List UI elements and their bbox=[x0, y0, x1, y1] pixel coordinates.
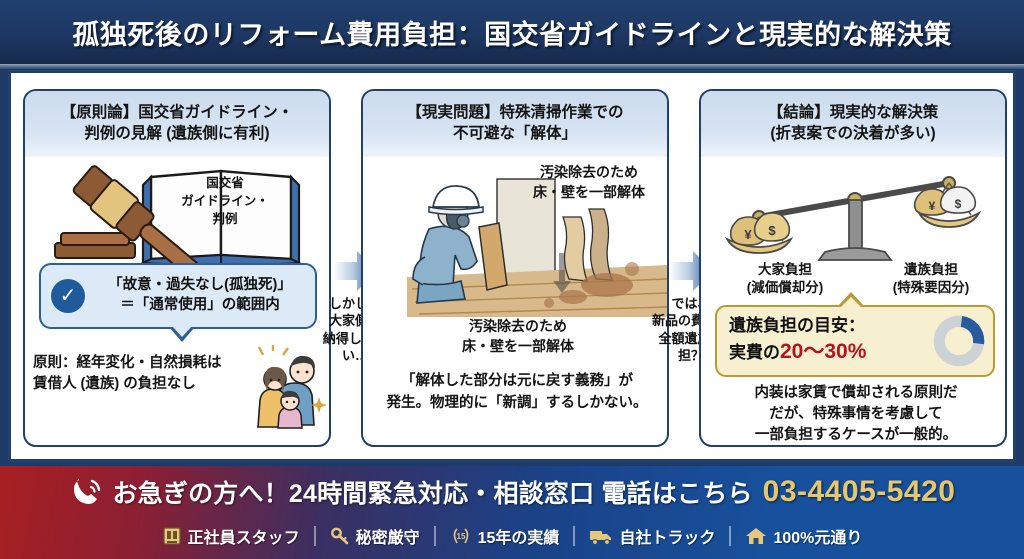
panel-header: 【原則論】国交省ガイドライン・ 判例の見解 (遺族側に有利) bbox=[25, 91, 329, 157]
panel-body: 汚染除去のため 床・壁を一部解体 汚染除去のため 床・壁を一部解体 「解体した部… bbox=[363, 157, 667, 447]
cost-estimate-highlight: 遺族負担の目安： 実費の20〜30% bbox=[715, 305, 995, 377]
principle-callout: ✓ 「故意・過失なし(孤独死)」 ＝「通常使用」の範囲内 bbox=[39, 263, 317, 329]
highlight-line-1: 遺族負担の目安： bbox=[729, 315, 933, 338]
panel-principle-bottom-text: 原則：経年変化・自然損耗は 賃借人 (遺族) の負担なし bbox=[33, 353, 263, 395]
svg-text:¥: ¥ bbox=[744, 227, 752, 242]
badge-label: 100%元通り bbox=[773, 524, 862, 548]
svg-text:¥: ¥ bbox=[929, 199, 936, 213]
badge-label: 自社トラック bbox=[619, 524, 715, 548]
truck-icon bbox=[589, 526, 613, 546]
badge-confidentiality: 秘密厳守 bbox=[316, 524, 434, 548]
callout-text: 「故意・過失なし(孤独死)」 ＝「通常使用」の範囲内 bbox=[93, 276, 307, 315]
badge-full-time-staff: 正社員スタッフ bbox=[148, 524, 314, 548]
balance-scale-illustration: ¥ $ ¥ $ bbox=[721, 159, 989, 263]
cta-text: お急ぎの方へ！24時間緊急対応・相談窓口 電話はこちら bbox=[113, 474, 753, 510]
header-bar: 孤独死後のリフォーム費用負担：国交省ガイドラインと現実的な解決策 bbox=[0, 0, 1024, 64]
infographic-root: 孤独死後のリフォーム費用負担：国交省ガイドラインと現実的な解決策 【原則論】国交… bbox=[0, 0, 1024, 559]
panel-conclusion-bottom-text: 内装は家賃で償却される原則だ だが、特殊事情を考慮して 一部負担するケースが一般… bbox=[711, 383, 1001, 446]
content-board: 【原則論】国交省ガイドライン・ 判例の見解 (遺族側に有利) bbox=[8, 70, 1016, 462]
laurel-15-icon: 15 bbox=[450, 526, 472, 546]
badge-label: 秘密厳守 bbox=[356, 524, 420, 548]
panel-header-text: 【原則論】国交省ガイドライン・ 判例の見解 (遺族側に有利) bbox=[61, 103, 294, 144]
svg-text:15: 15 bbox=[456, 532, 465, 541]
donut-chart-icon bbox=[933, 315, 985, 367]
check-circle-icon: ✓ bbox=[51, 279, 85, 313]
gavel-and-book-illustration: 国交省 ガイドライン・ 判例 bbox=[25, 159, 331, 269]
page-title: 孤独死後のリフォーム費用負担：国交省ガイドラインと現実的な解決策 bbox=[72, 13, 951, 52]
badge-15-years: 15 15年の実績 bbox=[436, 524, 574, 548]
badge-own-truck: 自社トラック bbox=[575, 524, 729, 548]
panel-reality-bottom-text: 「解体した部分は元に戻す義務」が 発生。物理的に「新調」するしかない。 bbox=[371, 371, 663, 415]
certificate-icon bbox=[162, 526, 182, 546]
panel-reality-caption: 汚染除去のため 床・壁を一部解体 bbox=[403, 317, 633, 356]
panel-header: 【現実問題】特殊清掃作業での 不可避な「解体」 bbox=[363, 91, 667, 157]
trust-badges: 正社員スタッフ 秘密厳守 15 15年の実績 bbox=[0, 518, 1024, 554]
svg-text:$: $ bbox=[955, 197, 962, 211]
scale-label-family: 遺族負担 (特殊要因分) bbox=[867, 261, 995, 296]
footer-cta-banner: お急ぎの方へ！24時間緊急対応・相談窓口 電話はこちら 03-4405-5420… bbox=[0, 466, 1024, 559]
panel-header: 【結論】現実的な解決策 (折衷案での決着が多い) bbox=[701, 91, 1005, 157]
phone-ringing-icon bbox=[69, 475, 103, 509]
panel-body: 国交省 ガイドライン・ 判例 ✓ 「故意・過失なし(孤独死)」 ＝「通常使用」の… bbox=[25, 157, 329, 447]
panel-principle: 【原則論】国交省ガイドライン・ 判例の見解 (遺族側に有利) bbox=[23, 89, 331, 447]
svg-text:$: $ bbox=[768, 223, 776, 238]
panel-header-text: 【現実問題】特殊清掃作業での 不可避な「解体」 bbox=[406, 103, 623, 144]
panel-reality-note: 汚染除去のため 床・壁を一部解体 bbox=[513, 163, 665, 202]
cta-row[interactable]: お急ぎの方へ！24時間緊急対応・相談窓口 電話はこちら 03-4405-5420 bbox=[0, 470, 1024, 514]
house-icon bbox=[745, 526, 767, 546]
panel-body: ¥ $ ¥ $ 大家負担 (減価償却分) 遺族負担 (特殊要因分) 遺族負担の目… bbox=[701, 157, 1005, 447]
panel-reality: 【現実問題】特殊清掃作業での 不可避な「解体」 bbox=[361, 89, 669, 447]
badge-100-restore: 100%元通り bbox=[731, 524, 876, 548]
key-icon bbox=[330, 526, 350, 546]
badge-label: 15年の実績 bbox=[478, 524, 560, 548]
highlight-line-2-prefix: 実費の bbox=[729, 343, 780, 362]
header-divider bbox=[0, 64, 1024, 69]
cta-phone-number[interactable]: 03-4405-5420 bbox=[763, 475, 956, 509]
book-label: 国交省 ガイドライン・ 判例 bbox=[177, 175, 273, 228]
badge-label: 正社員スタッフ bbox=[188, 524, 300, 548]
panel-conclusion: 【結論】現実的な解決策 (折衷案での決着が多い) bbox=[699, 89, 1007, 447]
highlight-percentage: 20〜30% bbox=[780, 340, 866, 363]
scale-label-landlord: 大家負担 (減価償却分) bbox=[721, 261, 849, 296]
panel-header-text: 【結論】現実的な解決策 (折衷案での決着が多い) bbox=[768, 103, 939, 144]
